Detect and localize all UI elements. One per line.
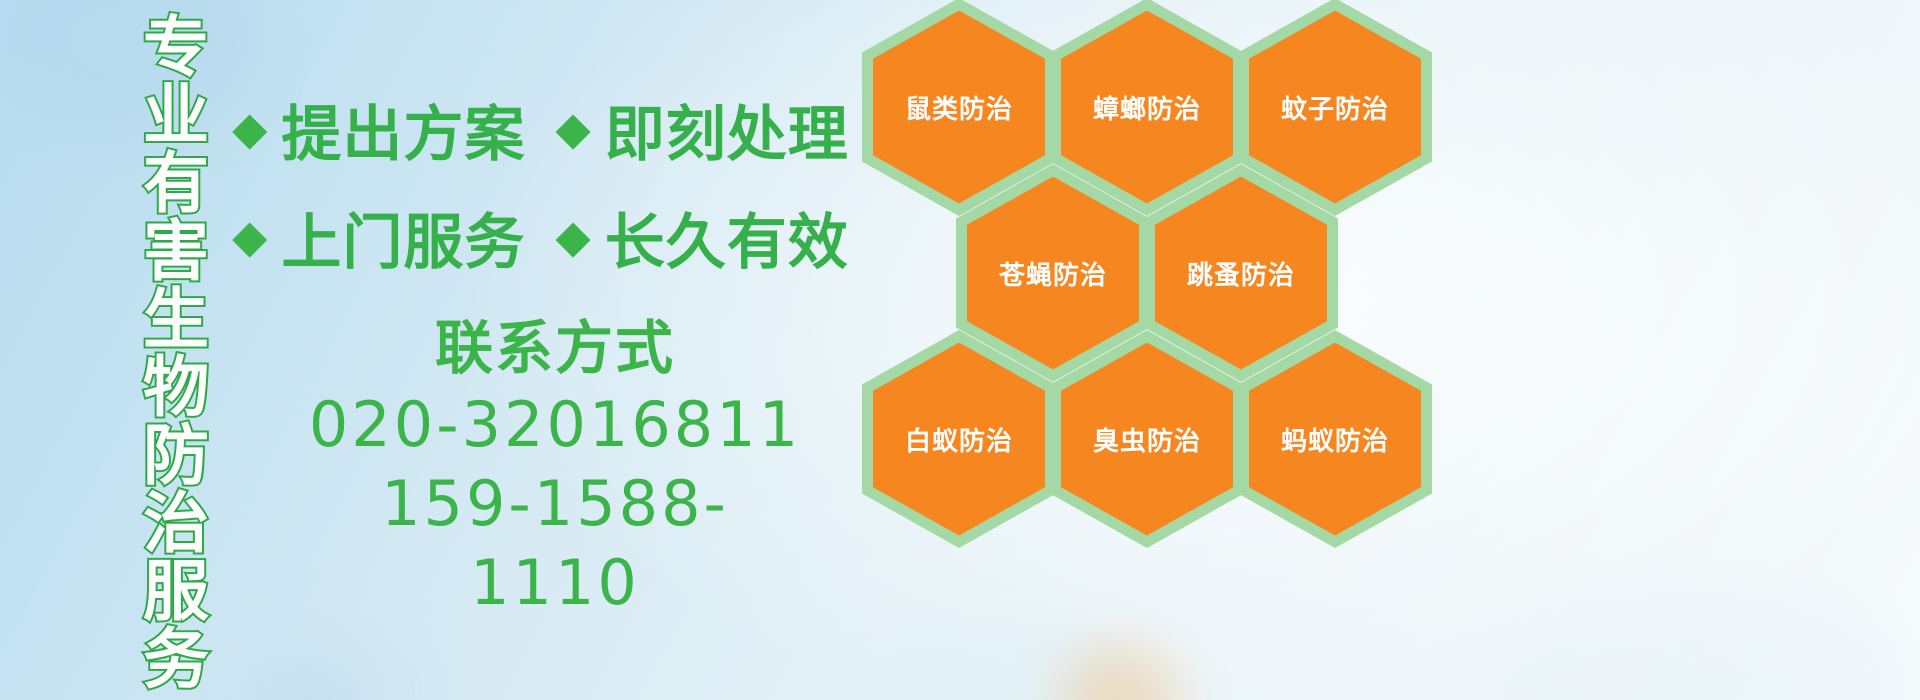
hex-label: 蟑螂防治 <box>1093 89 1201 126</box>
hex-inner: 臭虫防治 <box>1061 343 1233 536</box>
diamond-bullet-icon: ◆ <box>232 213 267 259</box>
feature-row-1: ◆ 提出方案 ◆ 即刻处理 <box>232 86 849 173</box>
hex-inner: 苍蝇防治 <box>967 177 1139 370</box>
hex-inner: 跳蚤防治 <box>1155 177 1327 370</box>
feature-label-onsite-service: 上门服务 <box>281 194 525 281</box>
hex-label: 跳蚤防治 <box>1187 255 1295 292</box>
pest-control-banner: 专业有害生物防治服务 ◆ 提出方案 ◆ 即刻处理 ◆ 上门服务 ◆ 长久有效 联… <box>0 0 1920 700</box>
feature-label-propose-plan: 提出方案 <box>281 86 525 173</box>
hex-label: 蚊子防治 <box>1281 89 1389 126</box>
feature-label-long-lasting: 长久有效 <box>605 194 849 281</box>
hex-inner: 白蚁防治 <box>873 343 1045 536</box>
diamond-bullet-icon: ◆ <box>232 105 267 151</box>
diamond-bullet-icon: ◆ <box>555 213 590 259</box>
feature-row-2: ◆ 上门服务 ◆ 长久有效 <box>232 194 849 281</box>
contact-block: 联系方式 020-32016811 159-1588-1110 <box>300 312 810 623</box>
feature-label-immediate-handling: 即刻处理 <box>605 86 849 173</box>
phone-landline[interactable]: 020-32016811 <box>300 385 810 464</box>
vertical-headline: 专业有害生物防治服务 <box>104 12 204 690</box>
hex-label: 蚂蚁防治 <box>1281 421 1389 458</box>
hex-label: 白蚁防治 <box>905 421 1013 458</box>
diamond-bullet-icon: ◆ <box>555 105 590 151</box>
hex-label: 臭虫防治 <box>1093 421 1201 458</box>
service-honeycomb: 鼠类防治 蟑螂防治 蚊子防治 苍蝇防治 跳蚤防治 白蚁防治 <box>856 0 1476 700</box>
hex-inner: 蚂蚁防治 <box>1249 343 1421 536</box>
hex-inner: 鼠类防治 <box>873 11 1045 204</box>
phone-mobile[interactable]: 159-1588-1110 <box>300 464 810 623</box>
hex-inner: 蟑螂防治 <box>1061 11 1233 204</box>
background-blob <box>1480 600 1900 700</box>
background-blob <box>250 660 370 700</box>
hex-inner: 蚊子防治 <box>1249 11 1421 204</box>
contact-label: 联系方式 <box>300 312 810 385</box>
hex-label: 鼠类防治 <box>905 89 1013 126</box>
hex-label: 苍蝇防治 <box>999 255 1107 292</box>
